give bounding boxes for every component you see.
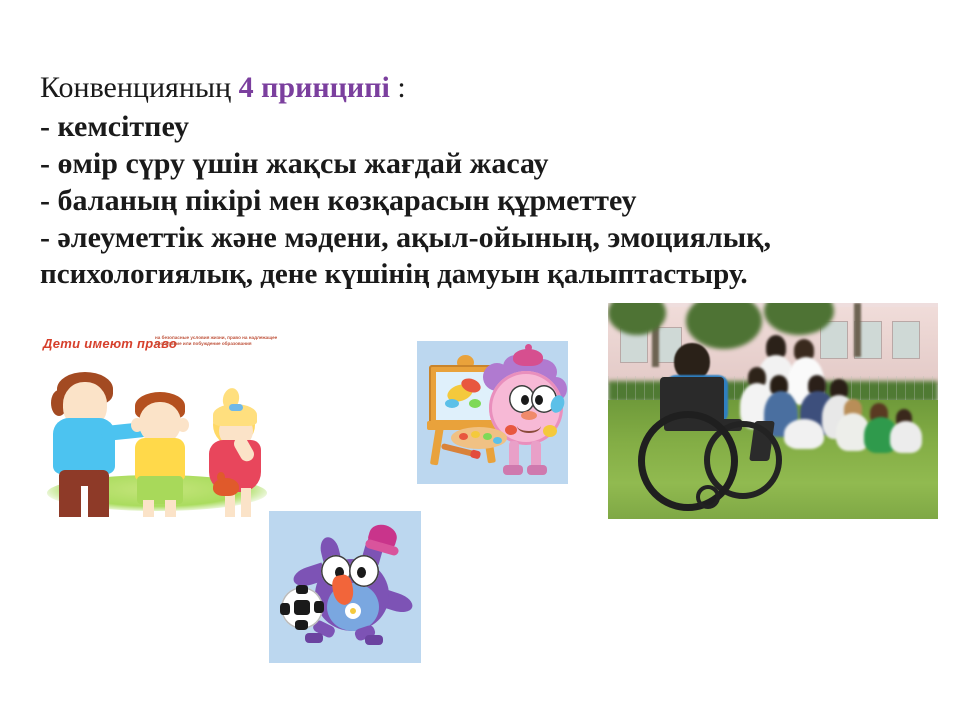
- photo-child: [890, 421, 922, 453]
- sheep-hoof-right: [527, 465, 547, 475]
- image-children-rights: Дети имеют право на безопасные условия ж…: [25, 332, 293, 517]
- slide-text-block: Конвенцияның 4 принципі : - кемсітпеу - …: [40, 68, 920, 293]
- photo-wheelchair-caster: [696, 485, 720, 509]
- paint-splat: [505, 425, 517, 435]
- photo-tree-trunk: [854, 303, 861, 357]
- owl-foot-right: [365, 635, 383, 645]
- painting-stroke: [469, 399, 481, 408]
- sheep-pupil-left: [521, 395, 529, 405]
- sheep-pupil-right: [535, 395, 543, 405]
- image-football-character: [269, 511, 421, 663]
- paint-palette-icon: [451, 427, 507, 449]
- presentation-slide: Конвенцияның 4 принципі : - кемсітпеу - …: [0, 0, 960, 720]
- bullet-item-2: - өмір сүру үшін жақсы жағдай жасау: [40, 145, 920, 182]
- image-painter-character: [417, 341, 568, 484]
- title-accent: 4 принципі: [239, 71, 390, 104]
- soccer-ball-icon: [281, 587, 323, 629]
- children-rights-subtext: на безопасные условия жизни, право на на…: [155, 335, 280, 348]
- beret-icon: [513, 349, 543, 366]
- bullet-item-3: - баланың пікірі мен көзқарасын құрметте…: [40, 182, 920, 219]
- cartoon-boy-younger: [129, 378, 195, 517]
- cartoon-girl: [203, 384, 269, 517]
- sheep-hoof-left: [503, 465, 523, 475]
- bullet-item-4: - әлеуметтік және мәдени, ақыл-ойының, э…: [40, 219, 920, 256]
- image-wheelchair-photo: [608, 303, 938, 519]
- photo-wheelchair-wheel-large: [638, 411, 738, 511]
- title-suffix: :: [390, 71, 406, 104]
- title-prefix: Конвенцияның: [40, 71, 239, 104]
- painting-stroke: [445, 399, 459, 408]
- photo-child: [784, 419, 824, 449]
- paint-splat: [543, 425, 557, 437]
- slide-title-line: Конвенцияның 4 принципі :: [40, 68, 920, 108]
- flower-icon: [345, 603, 361, 619]
- sheep-mouth: [517, 419, 541, 433]
- owl-foot-left: [305, 633, 323, 643]
- bullet-item-1: - кемсітпеу: [40, 108, 920, 145]
- bullet-item-5: психологиялық, дене күшінің дамуын қалып…: [40, 256, 920, 293]
- photo-window: [892, 321, 920, 359]
- owl-pupil-right: [357, 567, 366, 578]
- dropped-toy: [213, 478, 239, 496]
